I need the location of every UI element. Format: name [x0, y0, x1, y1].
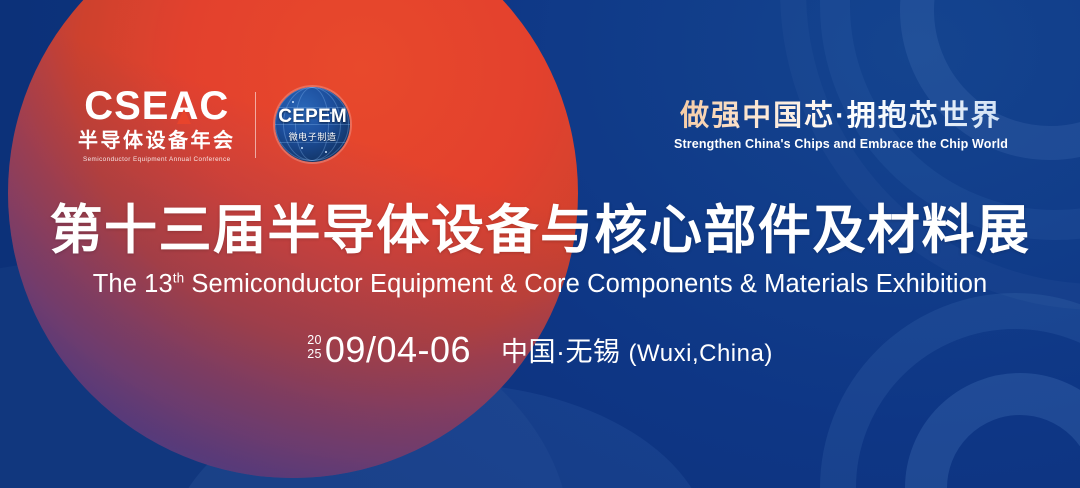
page-title-english-pre: The 13 [93, 270, 173, 298]
logo-lockup: CSEAC 半导体设备年会 Semiconductor Equipment An… [78, 86, 350, 163]
cseac-wordmark-accent-a: A [169, 86, 199, 126]
event-venue-chinese: 中国·无锡 [501, 337, 621, 367]
page-title-ordinal-suffix: th [173, 271, 184, 286]
banner-content: CSEAC 半导体设备年会 Semiconductor Equipment An… [0, 0, 1080, 488]
cseac-english-name: Semiconductor Equipment Annual Conferenc… [83, 156, 231, 163]
cseac-wordmark-post: C [199, 84, 229, 128]
cseac-logo: CSEAC 半导体设备年会 Semiconductor Equipment An… [78, 86, 236, 163]
event-venue: 中国·无锡 (Wuxi,China) [501, 330, 773, 369]
page-title-english-post: Semiconductor Equipment & Core Component… [184, 270, 987, 298]
event-meta-row: 20 25 09/04-06 中国·无锡 (Wuxi,China) [307, 330, 773, 369]
cseac-chinese-name: 半导体设备年会 [78, 130, 236, 152]
event-venue-english: (Wuxi,China) [629, 340, 773, 367]
cepem-wordmark: CEPEM [278, 106, 347, 128]
logo-divider [255, 92, 257, 158]
event-banner: CSEAC 半导体设备年会 Semiconductor Equipment An… [0, 0, 1080, 488]
cseac-wordmark: CSEAC [84, 86, 229, 126]
event-year-bottom: 25 [307, 348, 322, 361]
cepem-chinese-name: 微电子制造 [289, 130, 337, 143]
tagline-chinese: 做强中国芯·拥抱芯世界 [674, 100, 1008, 133]
cseac-wordmark-pre: CSE [84, 84, 169, 128]
cepem-globe-icon: CEPEM 微电子制造 [275, 87, 350, 162]
page-title-chinese: 第十三届半导体设备与核心部件及材料展 [50, 203, 1031, 259]
event-year-top: 20 [307, 334, 322, 347]
tagline-english: Strengthen China's Chips and Embrace the… [674, 137, 1008, 151]
tagline: 做强中国芯·拥抱芯世界 Strengthen China's Chips and… [674, 100, 1008, 151]
event-date: 09/04-06 [325, 332, 471, 368]
event-year: 20 25 [307, 334, 322, 364]
page-title-english: The 13th Semiconductor Equipment & Core … [93, 270, 988, 299]
